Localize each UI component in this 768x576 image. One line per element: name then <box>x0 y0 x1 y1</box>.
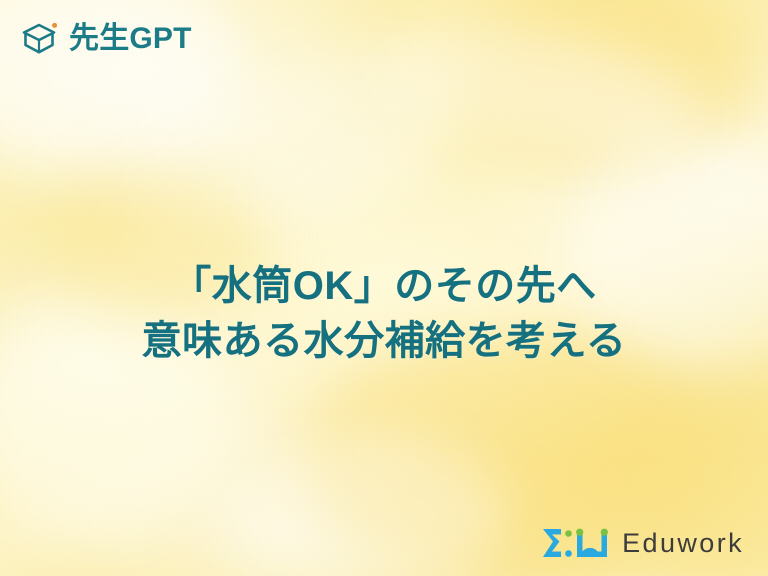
page-title-line-1: 「水筒OK」のその先へ <box>0 259 768 314</box>
eduwork-mark-icon <box>539 527 611 559</box>
brand-logo: 先生GPT <box>18 18 192 60</box>
partner-logo-wordmark: Eduwork <box>622 530 744 557</box>
graduation-cap-hexagon-icon <box>18 18 60 60</box>
page-title: 「水筒OK」のその先へ 意味ある水分補給を考える <box>0 259 768 369</box>
partner-logo: Eduwork <box>539 527 744 559</box>
page-title-line-2: 意味ある水分補給を考える <box>0 314 768 369</box>
article-header-banner: 先生GPT 「水筒OK」のその先へ 意味ある水分補給を考える Eduwork <box>0 0 768 576</box>
brand-logo-wordmark: 先生GPT <box>69 24 192 54</box>
